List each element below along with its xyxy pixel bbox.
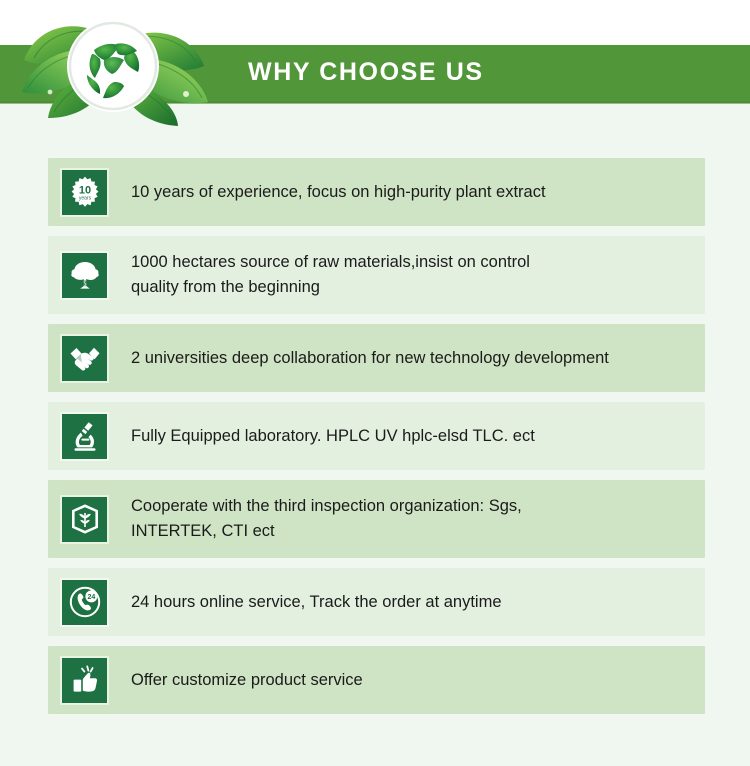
tree-icon bbox=[62, 253, 107, 298]
list-item-label: Cooperate with the third inspection orga… bbox=[131, 494, 522, 544]
list-item[interactable]: 2 universities deep collaboration for ne… bbox=[48, 324, 705, 392]
list-item[interactable]: 24 24 hours online service, Track the or… bbox=[48, 568, 705, 636]
microscope-icon bbox=[62, 414, 107, 459]
green-leaves-recycle-logo bbox=[8, 8, 223, 128]
list-item[interactable]: Cooperate with the third inspection orga… bbox=[48, 480, 705, 558]
thumbs-up-icon bbox=[62, 658, 107, 703]
list-item[interactable]: Offer customize product service bbox=[48, 646, 705, 714]
list-item-label: 1000 hectares source of raw materials,in… bbox=[131, 250, 530, 300]
list-item[interactable]: 10 years 10 years of experience, focus o… bbox=[48, 158, 705, 226]
phone-24h-icon: 24 bbox=[62, 580, 107, 625]
package-box-icon bbox=[62, 497, 107, 542]
list-item-label: 10 years of experience, focus on high-pu… bbox=[131, 180, 546, 205]
handshake-icon bbox=[62, 336, 107, 381]
feature-list: 10 years 10 years of experience, focus o… bbox=[48, 158, 705, 724]
list-item-label: 24 hours online service, Track the order… bbox=[131, 590, 502, 615]
ten-years-badge-icon: 10 years bbox=[62, 170, 107, 215]
list-item[interactable]: 1000 hectares source of raw materials,in… bbox=[48, 236, 705, 314]
list-item-label: 2 universities deep collaboration for ne… bbox=[131, 346, 609, 371]
list-item[interactable]: Fully Equipped laboratory. HPLC UV hplc-… bbox=[48, 402, 705, 470]
page-title: WHY CHOOSE US bbox=[248, 58, 484, 87]
list-item-label: Offer customize product service bbox=[131, 668, 363, 693]
badge-unit: years bbox=[78, 195, 91, 201]
why-choose-us-infographic: WHY CHOOSE US bbox=[0, 0, 750, 766]
hours-badge-label: 24 bbox=[87, 594, 95, 601]
list-item-label: Fully Equipped laboratory. HPLC UV hplc-… bbox=[131, 424, 535, 449]
